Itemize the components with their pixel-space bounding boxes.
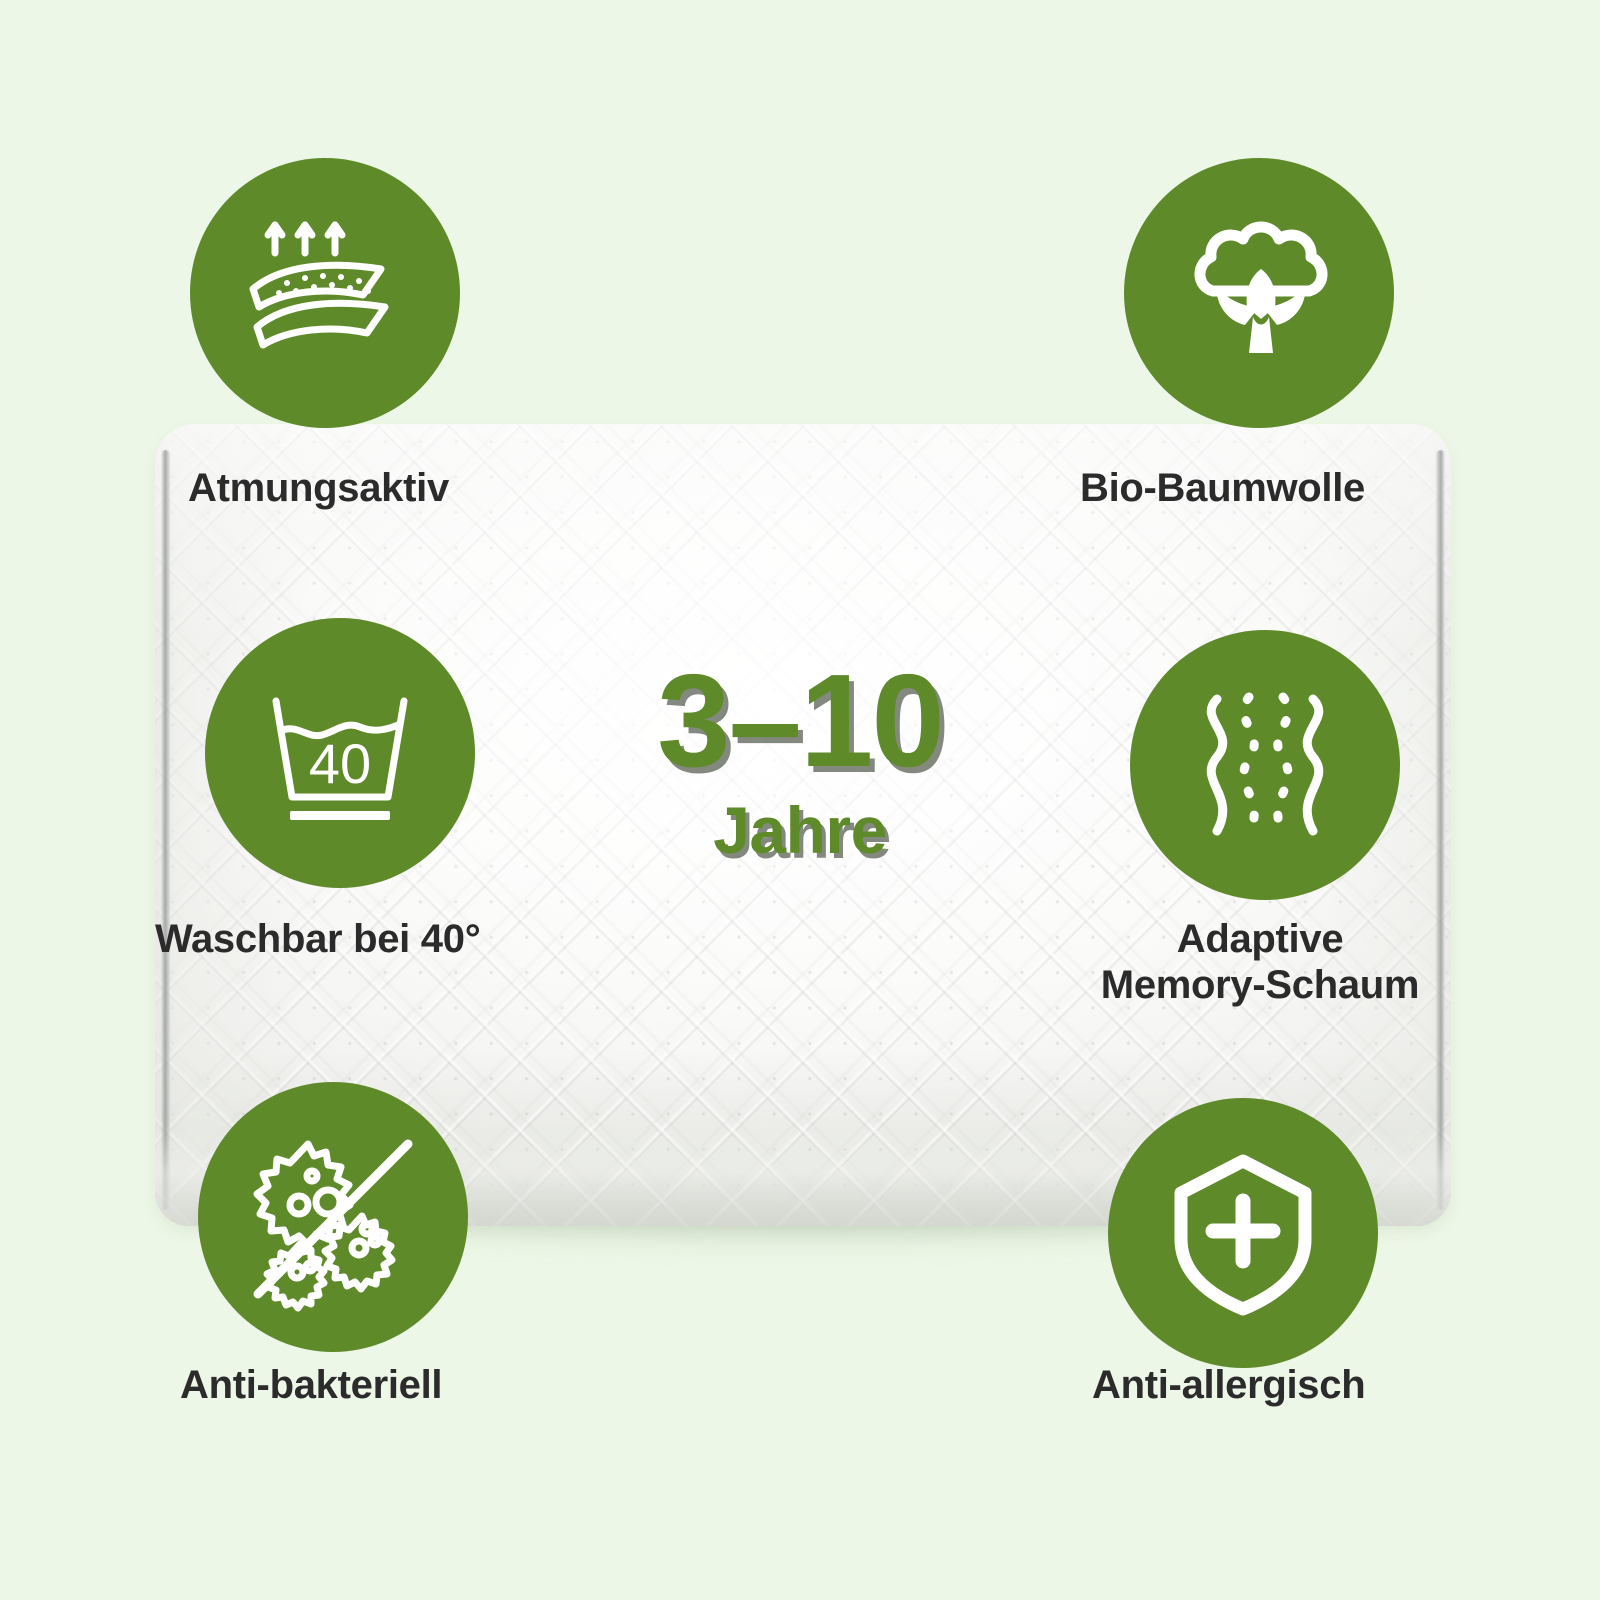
- feature-badge-washable[interactable]: 40: [205, 618, 475, 888]
- pillow-piping-left: [161, 450, 170, 1210]
- shield-plus-icon: [1153, 1143, 1333, 1323]
- washing-tub-40-icon: 40: [250, 663, 430, 843]
- breathable-layers-icon: [235, 203, 415, 383]
- feature-label-memory: Adaptive Memory-Schaum: [1075, 916, 1445, 1009]
- feature-badge-breathable[interactable]: [190, 158, 460, 428]
- no-bacteria-icon: [236, 1120, 431, 1315]
- feature-label-washable: Waschbar bei 40°: [155, 916, 480, 962]
- feature-label-breathable: Atmungsaktiv: [188, 465, 449, 511]
- infographic-canvas: 3–10 Jahre Atmungsaktiv: [0, 0, 1600, 1600]
- feature-label-cotton: Bio-Baumwolle: [1080, 465, 1365, 511]
- feature-badge-cotton[interactable]: [1124, 158, 1394, 428]
- adaptive-foam-wave-icon: [1175, 675, 1355, 855]
- cotton-flower-icon: [1169, 203, 1349, 383]
- feature-badge-memory[interactable]: [1130, 630, 1400, 900]
- feature-badge-antiallergic[interactable]: [1108, 1098, 1378, 1368]
- feature-label-antibacterial: Anti-bakteriell: [180, 1362, 442, 1408]
- feature-label-antiallergic: Anti-allergisch: [1092, 1362, 1365, 1408]
- pillow-piping-right: [1436, 450, 1445, 1210]
- feature-badge-antibacterial[interactable]: [198, 1082, 468, 1352]
- wash-temperature-value: 40: [309, 732, 371, 795]
